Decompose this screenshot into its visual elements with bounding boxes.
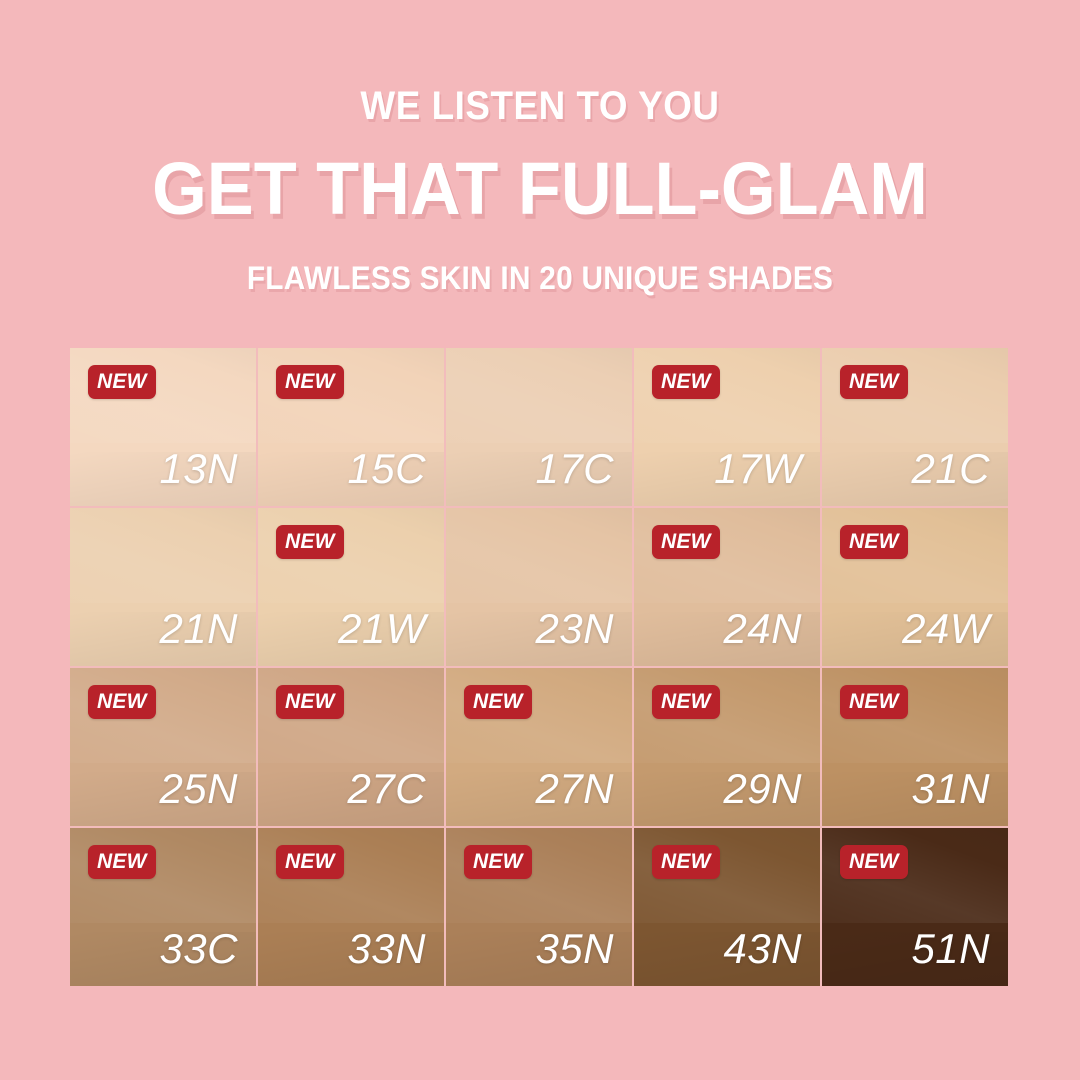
shade-label: 13N (159, 448, 238, 490)
shade-swatch-43n[interactable]: NEW43N (634, 828, 820, 986)
shade-swatch-grid: NEW13NNEW15CNEW17CNEW17WNEW21CNEW21NNEW2… (70, 348, 1008, 986)
new-badge: NEW (840, 685, 908, 719)
shade-label: 17C (535, 448, 614, 490)
new-badge: NEW (840, 845, 908, 879)
shade-label: 33C (159, 928, 238, 970)
shade-label: 21N (159, 608, 238, 650)
shade-label: 17W (714, 448, 802, 490)
header-subhead: FLAWLESS SKIN IN 20 UNIQUE SHADES (38, 262, 1042, 294)
new-badge: NEW (276, 845, 344, 879)
shade-swatch-17c[interactable]: NEW17C (446, 348, 632, 506)
shade-label: 15C (347, 448, 426, 490)
new-badge: NEW (464, 685, 532, 719)
shade-swatch-24n[interactable]: NEW24N (634, 508, 820, 666)
new-badge: NEW (652, 685, 720, 719)
shade-swatch-33c[interactable]: NEW33C (70, 828, 256, 986)
shade-swatch-31n[interactable]: NEW31N (822, 668, 1008, 826)
shade-swatch-35n[interactable]: NEW35N (446, 828, 632, 986)
shade-swatch-24w[interactable]: NEW24W (822, 508, 1008, 666)
promo-header: WE LISTEN TO YOU GET THAT FULL-GLAM FLAW… (0, 0, 1080, 294)
page-title: GET THAT FULL-GLAM (27, 152, 1053, 226)
shade-label: 43N (723, 928, 802, 970)
shade-swatch-33n[interactable]: NEW33N (258, 828, 444, 986)
shade-label: 25N (159, 768, 238, 810)
shade-swatch-27n[interactable]: NEW27N (446, 668, 632, 826)
shade-label: 23N (535, 608, 614, 650)
shade-swatch-15c[interactable]: NEW15C (258, 348, 444, 506)
new-badge: NEW (88, 365, 156, 399)
new-badge: NEW (652, 845, 720, 879)
header-eyebrow: WE LISTEN TO YOU (43, 86, 1037, 126)
new-badge: NEW (88, 845, 156, 879)
new-badge: NEW (652, 365, 720, 399)
shade-swatch-21n[interactable]: NEW21N (70, 508, 256, 666)
shade-label: 31N (911, 768, 990, 810)
new-badge: NEW (652, 525, 720, 559)
new-badge: NEW (88, 685, 156, 719)
shade-label: 21C (911, 448, 990, 490)
shade-swatch-25n[interactable]: NEW25N (70, 668, 256, 826)
new-badge: NEW (840, 365, 908, 399)
shade-label: 27N (535, 768, 614, 810)
new-badge: NEW (840, 525, 908, 559)
shade-swatch-51n[interactable]: NEW51N (822, 828, 1008, 986)
shade-label: 33N (347, 928, 426, 970)
new-badge: NEW (276, 365, 344, 399)
shade-label: 24W (902, 608, 990, 650)
shade-label: 35N (535, 928, 614, 970)
shade-label: 27C (347, 768, 426, 810)
shade-swatch-17w[interactable]: NEW17W (634, 348, 820, 506)
shade-label: 24N (723, 608, 802, 650)
shade-swatch-23n[interactable]: NEW23N (446, 508, 632, 666)
shade-swatch-21w[interactable]: NEW21W (258, 508, 444, 666)
shade-swatch-21c[interactable]: NEW21C (822, 348, 1008, 506)
shade-swatch-27c[interactable]: NEW27C (258, 668, 444, 826)
new-badge: NEW (276, 525, 344, 559)
new-badge: NEW (276, 685, 344, 719)
shade-label: 29N (723, 768, 802, 810)
new-badge: NEW (464, 845, 532, 879)
shade-label: 21W (338, 608, 426, 650)
shade-swatch-29n[interactable]: NEW29N (634, 668, 820, 826)
shade-swatch-13n[interactable]: NEW13N (70, 348, 256, 506)
shade-label: 51N (911, 928, 990, 970)
